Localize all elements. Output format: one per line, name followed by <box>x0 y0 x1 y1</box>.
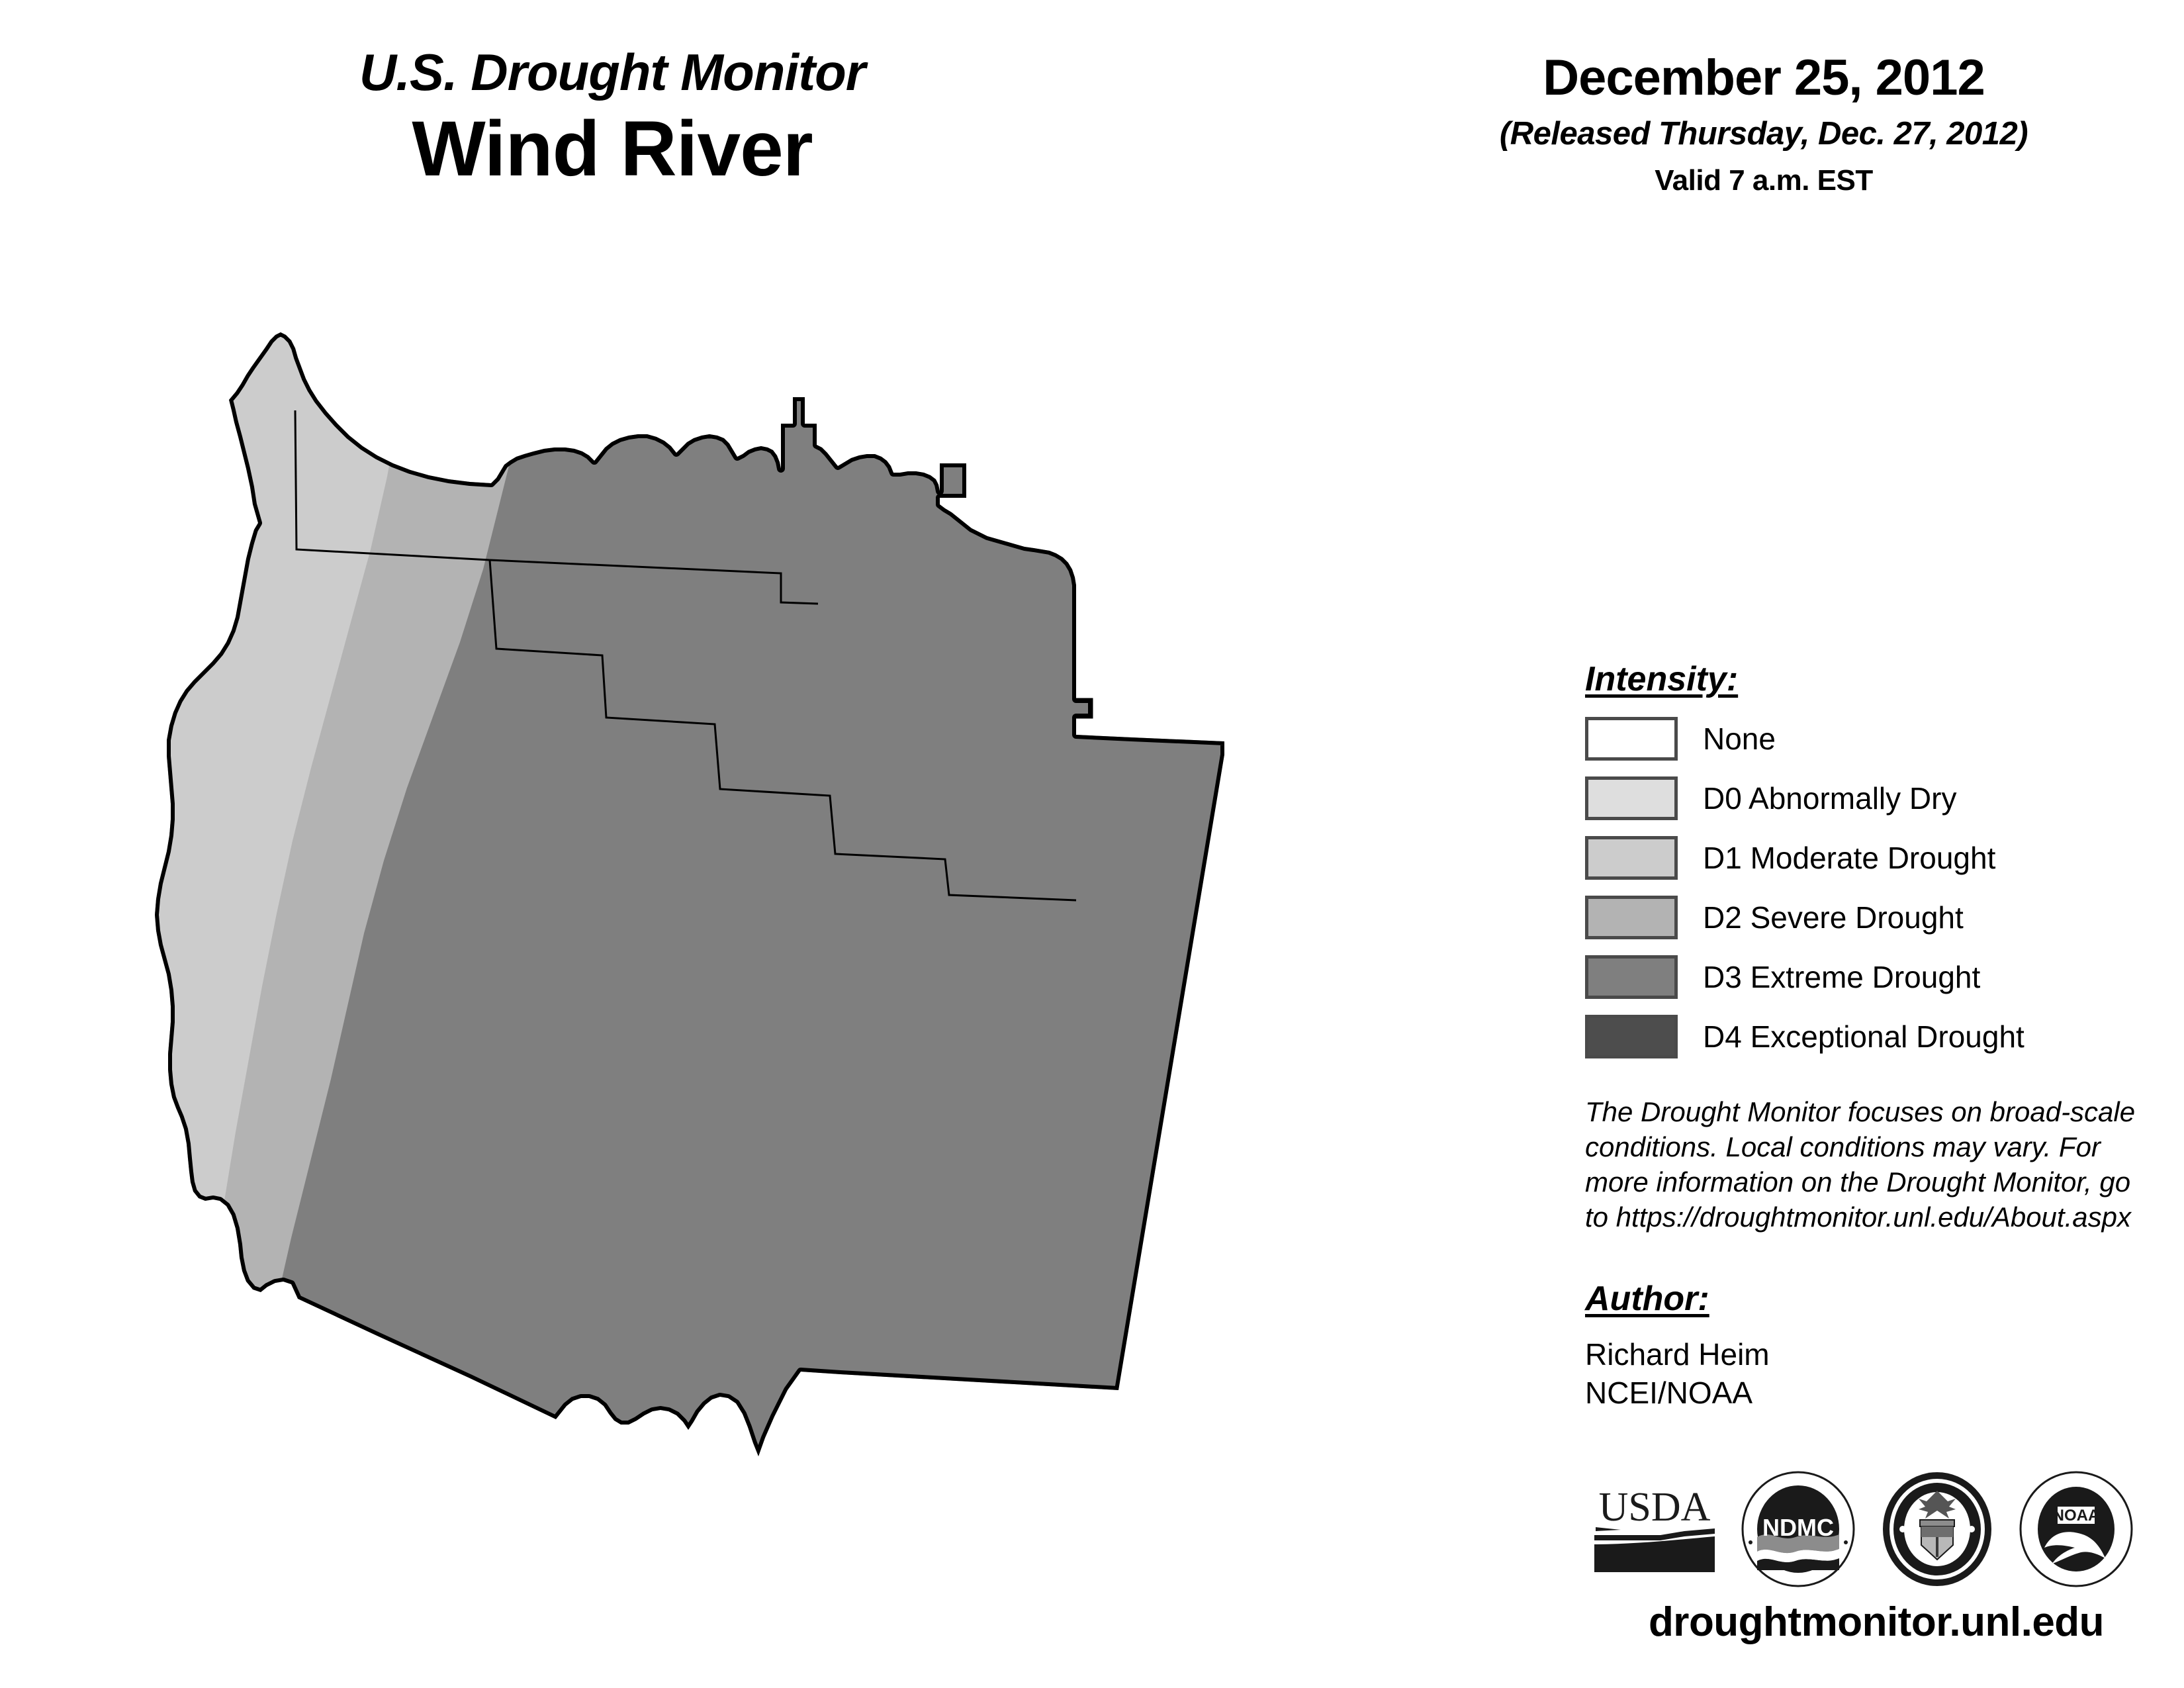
legend-swatch-d1 <box>1585 836 1678 880</box>
legend-swatch-d3 <box>1585 955 1678 999</box>
released-date: (Released Thursday, Dec. 27, 2012) <box>1383 118 2144 150</box>
site-url[interactable]: droughtmonitor.unl.edu <box>1585 1602 2167 1643</box>
legend-swatch-d0 <box>1585 776 1678 820</box>
legend-label-d2: D2 Severe Drought <box>1703 902 1964 933</box>
valid-date: December 25, 2012 <box>1383 53 2144 103</box>
map-svg <box>99 331 1489 1589</box>
usda-logo: USDA <box>1592 1479 1717 1579</box>
intensity-heading: Intensity: <box>1585 662 2154 696</box>
svg-text:USDA: USDA <box>1599 1485 1711 1530</box>
legend-label-none: None <box>1703 724 1776 754</box>
legend-label-d4: D4 Exceptional Drought <box>1703 1021 2025 1052</box>
author-name: Richard Heim <box>1585 1336 2154 1374</box>
valid-time: Valid 7 a.m. EST <box>1383 166 2144 195</box>
legend-swatch-none <box>1585 717 1678 761</box>
legend-item-d3[interactable]: D3 Extreme Drought <box>1585 953 2154 1001</box>
legend-item-d4[interactable]: D4 Exceptional Drought <box>1585 1013 2154 1060</box>
legend-label-d3: D3 Extreme Drought <box>1703 962 1980 992</box>
legend-item-none[interactable]: None <box>1585 715 2154 763</box>
program-title: U.S. Drought Monitor <box>199 46 1026 98</box>
legend-label-d1: D1 Moderate Drought <box>1703 843 1995 873</box>
author-affiliation: NCEI/NOAA <box>1585 1374 2154 1413</box>
svg-text:NOAA: NOAA <box>2053 1507 2100 1524</box>
legend-item-d0[interactable]: D0 Abnormally Dry <box>1585 774 2154 822</box>
legend-item-d1[interactable]: D1 Moderate Drought <box>1585 834 2154 882</box>
agency-logos: USDA NDMC NOAA <box>1592 1466 2161 1592</box>
ndmc-logo: NDMC <box>1740 1471 1856 1587</box>
disclaimer-text: The Drought Monitor focuses on broad-sca… <box>1585 1095 2141 1235</box>
title-block: U.S. Drought Monitor Wind River <box>199 46 1026 191</box>
doc-seal-logo <box>1879 1471 1995 1587</box>
region-title: Wind River <box>199 107 1026 191</box>
legend-panel: Intensity: None D0 Abnormally Dry D1 Mod… <box>1585 662 2154 1413</box>
legend-label-d0: D0 Abnormally Dry <box>1703 783 1956 814</box>
legend-item-d2[interactable]: D2 Severe Drought <box>1585 894 2154 941</box>
map-intensity-bands <box>99 331 1489 1589</box>
noaa-logo: NOAA <box>2018 1471 2134 1587</box>
date-block: December 25, 2012 (Released Thursday, De… <box>1383 53 2144 195</box>
drought-map[interactable] <box>99 331 1489 1589</box>
legend-swatch-d2 <box>1585 896 1678 939</box>
author-heading: Author: <box>1585 1282 2154 1316</box>
svg-text:NDMC: NDMC <box>1762 1514 1834 1541</box>
legend-swatch-d4 <box>1585 1015 1678 1058</box>
